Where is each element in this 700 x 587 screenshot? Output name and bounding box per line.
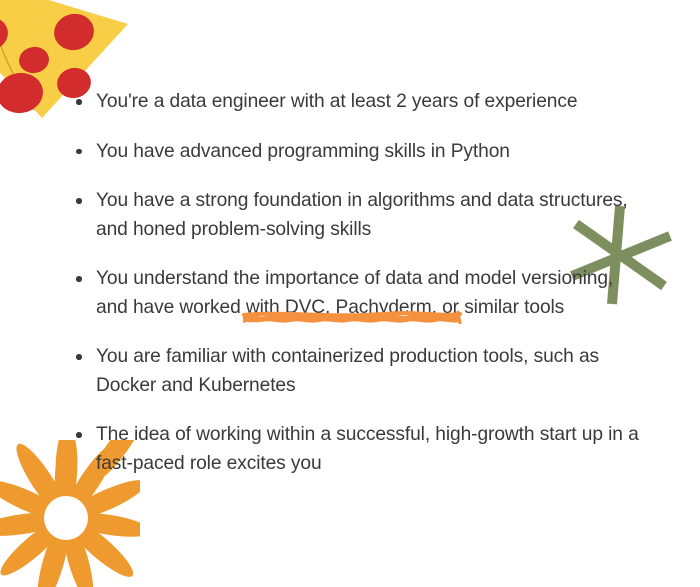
list-item: You're a data engineer with at least 2 y… — [70, 88, 650, 117]
list-item: The idea of working within a successful,… — [70, 421, 650, 478]
bullet-marker-icon — [76, 354, 82, 360]
list-item-text: You have advanced programming skills in … — [96, 138, 650, 167]
pepperoni-icon — [50, 10, 98, 55]
flower-petal — [57, 517, 99, 587]
requirements-bullet-list: You're a data engineer with at least 2 y… — [70, 88, 650, 478]
bullet-marker-icon — [76, 99, 82, 105]
flower-petal — [31, 517, 75, 587]
list-item: You understand the importance of data an… — [70, 265, 650, 322]
flower-petal — [0, 508, 65, 540]
pizza-crust-line — [0, 4, 34, 110]
bullet-marker-icon — [76, 198, 82, 204]
list-item: You are familiar with containerized prod… — [70, 343, 650, 400]
pepperoni-icon — [0, 13, 11, 55]
pepperoni-icon — [0, 70, 46, 116]
list-item-text: You understand the importance of data an… — [96, 265, 650, 322]
flower-petal — [0, 512, 71, 582]
bullet-marker-icon — [76, 432, 82, 438]
list-item-text: You have a strong foundation in algorith… — [96, 187, 650, 244]
pepperoni-icon — [17, 45, 51, 76]
slide-canvas: You're a data engineer with at least 2 y… — [0, 0, 700, 587]
bullet-marker-icon — [76, 276, 82, 282]
list-item-text: The idea of working within a successful,… — [96, 421, 650, 478]
flower-petal — [64, 473, 140, 526]
list-item: You have a strong foundation in algorith… — [70, 187, 650, 244]
flower-petal — [66, 508, 140, 541]
list-item: You have advanced programming skills in … — [70, 138, 650, 167]
flower-petal — [61, 511, 140, 583]
flower-petal — [0, 474, 68, 526]
flower-petal — [9, 440, 73, 522]
bullet-marker-icon — [76, 149, 82, 155]
list-item-text: You are familiar with containerized prod… — [96, 343, 650, 400]
list-item-text: You're a data engineer with at least 2 y… — [96, 88, 650, 117]
flower-center — [44, 496, 88, 540]
